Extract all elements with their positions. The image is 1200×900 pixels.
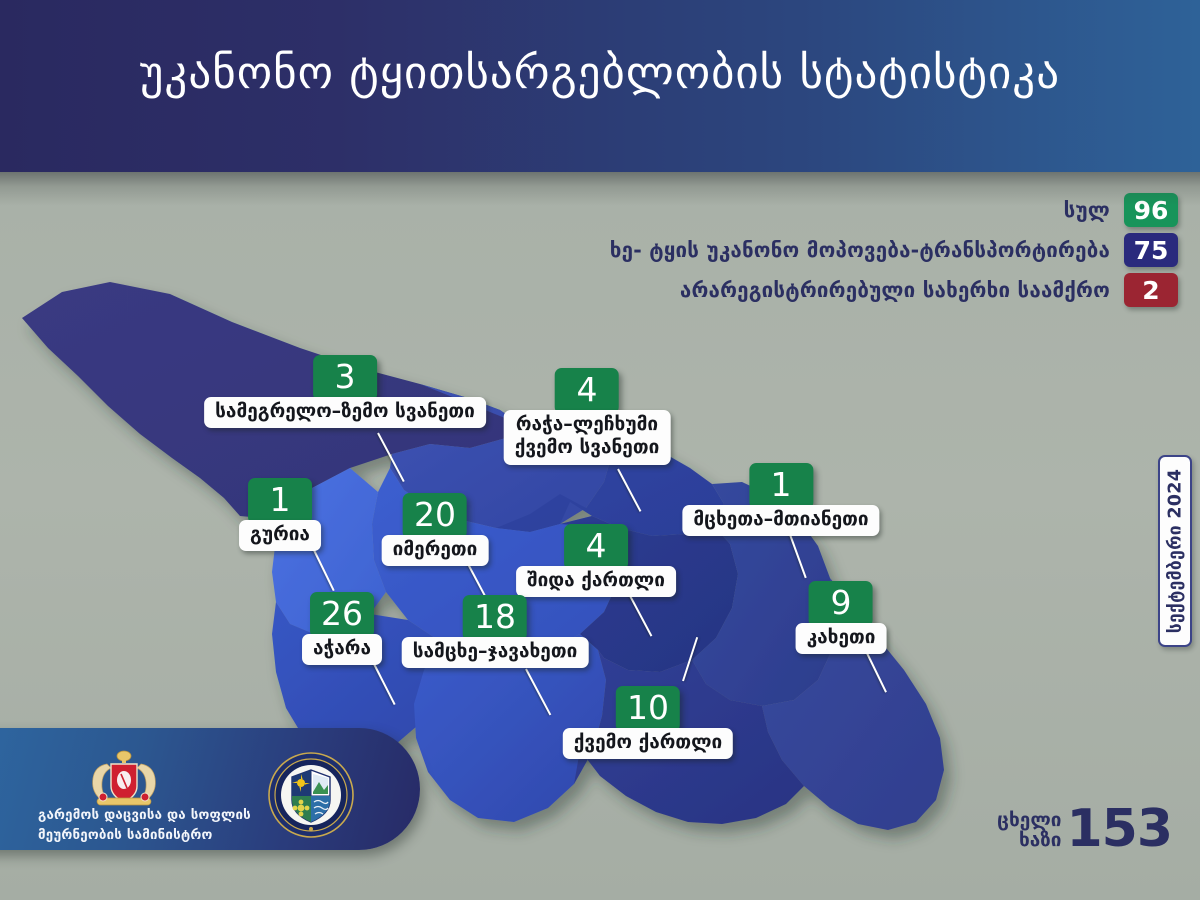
legend-badge: 75 [1124, 233, 1178, 267]
marker-value: 20 [403, 493, 467, 539]
georgia-coat-of-arms-icon [85, 748, 163, 810]
map-marker: 9კახეთი [796, 581, 887, 654]
map-marker: 4რაჭა–ლეჩხუმი ქვემო სვანეთი [504, 368, 671, 465]
legend-badge: 2 [1124, 273, 1178, 307]
hotline-number: 153 [1066, 807, 1172, 852]
marker-region-name: შიდა ქართლი [516, 566, 676, 597]
map-marker: 26აჭარა [302, 592, 382, 665]
marker-region-name: მცხეთა–მთიანეთი [682, 505, 879, 536]
legend-label: სულ [1064, 198, 1110, 222]
map-marker: 1გურია [239, 478, 321, 551]
legend-label: ხე- ტყის უკანონო მოპოვება-ტრანსპორტირება [610, 238, 1110, 262]
marker-region-name: გურია [239, 520, 321, 551]
hotline-label: ცხელი ხაზი [997, 810, 1061, 850]
marker-value: 4 [564, 524, 628, 570]
marker-value: 3 [313, 355, 377, 401]
map-marker: 1მცხეთა–მთიანეთი [682, 463, 879, 536]
marker-region-name: ქვემო ქართლი [563, 728, 733, 759]
legend-badge: 96 [1124, 193, 1178, 227]
marker-value: 10 [616, 686, 680, 732]
legend-row: სულ96 [438, 194, 1178, 226]
marker-region-name: კახეთი [796, 623, 887, 654]
marker-region-name: რაჭა–ლეჩხუმი ქვემო სვანეთი [504, 410, 671, 464]
legend-label: არარეგისტრირებული სახერხი საამქრო [680, 278, 1110, 302]
hotline: ცხელი ხაზი 153 [997, 807, 1172, 852]
header-banner: უკანონო ტყითსარგებლობის სტატისტიკა [0, 0, 1200, 172]
marker-region-name: სამცხე–ჯავახეთი [402, 637, 589, 668]
marker-region-name: სამეგრელო–ზემო სვანეთი [204, 397, 486, 428]
date-tab: სექტემბერი 2024 [1158, 455, 1192, 647]
marker-region-name: იმერეთი [382, 535, 489, 566]
page-title: უკანონო ტყითსარგებლობის სტატისტიკა [0, 48, 1200, 98]
ministry-name: გარემოს დაცვისა და სოფლის მეურნეობის სამ… [38, 806, 251, 846]
marker-value: 1 [248, 478, 312, 524]
marker-region-name: აჭარა [302, 634, 382, 665]
map-marker: 18სამცხე–ჯავახეთი [402, 595, 589, 668]
map-marker: 10ქვემო ქართლი [563, 686, 733, 759]
marker-value: 26 [310, 592, 374, 638]
infographic-page: უკანონო ტყითსარგებლობის სტატისტიკა სულ96… [0, 0, 1200, 900]
map-marker: 3სამეგრელო–ზემო სვანეთი [204, 355, 486, 428]
marker-value: 18 [463, 595, 527, 641]
legend-row: არარეგისტრირებული სახერხი საამქრო2 [438, 274, 1178, 306]
marker-value: 9 [809, 581, 873, 627]
marker-value: 1 [749, 463, 813, 509]
legend-row: ხე- ტყის უკანონო მოპოვება-ტრანსპორტირება… [438, 234, 1178, 266]
marker-value: 4 [555, 368, 619, 414]
legend: სულ96ხე- ტყის უკანონო მოპოვება-ტრანსპორტ… [438, 194, 1178, 314]
ministry-emblem-icon [268, 752, 354, 838]
date-tab-label: სექტემბერი 2024 [1165, 469, 1185, 634]
map-marker: 20იმერეთი [382, 493, 489, 566]
map-marker: 4შიდა ქართლი [516, 524, 676, 597]
